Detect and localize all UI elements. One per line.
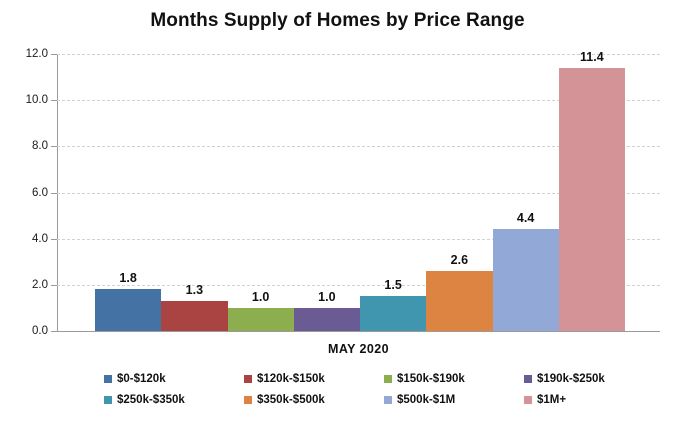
bar-value-label: 1.0 bbox=[294, 290, 360, 304]
legend-item[interactable]: $0-$120k bbox=[104, 373, 244, 385]
legend-label: $1M+ bbox=[537, 394, 566, 406]
legend-swatch-icon bbox=[384, 375, 392, 383]
legend-item[interactable]: $190k-$250k bbox=[524, 373, 664, 385]
legend-label: $150k-$190k bbox=[397, 373, 465, 385]
bar[interactable] bbox=[493, 229, 559, 331]
bar-value-label: 1.0 bbox=[228, 290, 294, 304]
legend-item[interactable]: $1M+ bbox=[524, 394, 664, 406]
legend-swatch-icon bbox=[524, 375, 532, 383]
bar[interactable] bbox=[559, 68, 625, 331]
bar-value-label: 11.4 bbox=[559, 50, 625, 64]
bar-value-label: 4.4 bbox=[493, 211, 559, 225]
y-axis-tick-label: 0.0 bbox=[4, 325, 48, 337]
legend-swatch-icon bbox=[384, 396, 392, 404]
legend-label: $250k-$350k bbox=[117, 394, 185, 406]
bar[interactable] bbox=[360, 296, 426, 331]
plot-area: 1.81.31.01.01.52.64.411.4 bbox=[57, 54, 660, 331]
legend-swatch-icon bbox=[244, 375, 252, 383]
legend-label: $190k-$250k bbox=[537, 373, 605, 385]
bar-chart: Months Supply of Homes by Price Range 0.… bbox=[0, 0, 675, 423]
legend-label: $0-$120k bbox=[117, 373, 166, 385]
bar-value-label: 2.6 bbox=[426, 253, 492, 267]
y-axis-tick-labels: 0.02.04.06.08.010.012.0 bbox=[0, 0, 48, 423]
legend-swatch-icon bbox=[104, 375, 112, 383]
y-axis-tick-label: 10.0 bbox=[4, 94, 48, 106]
y-axis-tick-label: 6.0 bbox=[4, 187, 48, 199]
legend-label: $500k-$1M bbox=[397, 394, 455, 406]
bar[interactable] bbox=[161, 301, 227, 331]
legend-item[interactable]: $350k-$500k bbox=[244, 394, 384, 406]
legend-item[interactable]: $250k-$350k bbox=[104, 394, 244, 406]
bar[interactable] bbox=[95, 289, 161, 331]
bar-value-label: 1.3 bbox=[161, 283, 227, 297]
bar[interactable] bbox=[228, 308, 294, 331]
legend-item[interactable]: $150k-$190k bbox=[384, 373, 524, 385]
legend-swatch-icon bbox=[104, 396, 112, 404]
y-axis-tick-label: 12.0 bbox=[4, 48, 48, 60]
bar-value-label: 1.8 bbox=[95, 271, 161, 285]
y-axis-tick-label: 4.0 bbox=[4, 233, 48, 245]
legend-label: $120k-$150k bbox=[257, 373, 325, 385]
x-axis-label: MAY 2020 bbox=[57, 342, 660, 356]
legend-item[interactable]: $500k-$1M bbox=[384, 394, 524, 406]
bar[interactable] bbox=[294, 308, 360, 331]
legend-swatch-icon bbox=[244, 396, 252, 404]
y-axis-tick-label: 8.0 bbox=[4, 140, 48, 152]
legend-swatch-icon bbox=[524, 396, 532, 404]
y-axis-tick-label: 2.0 bbox=[4, 279, 48, 291]
legend-label: $350k-$500k bbox=[257, 394, 325, 406]
bars-layer: 1.81.31.01.01.52.64.411.4 bbox=[57, 54, 660, 331]
axis-baseline bbox=[57, 331, 660, 332]
chart-legend: $0-$120k$120k-$150k$150k-$190k$190k-$250… bbox=[104, 368, 664, 410]
bar[interactable] bbox=[426, 271, 492, 331]
bar-value-label: 1.5 bbox=[360, 278, 426, 292]
chart-title: Months Supply of Homes by Price Range bbox=[0, 10, 675, 32]
legend-item[interactable]: $120k-$150k bbox=[244, 373, 384, 385]
